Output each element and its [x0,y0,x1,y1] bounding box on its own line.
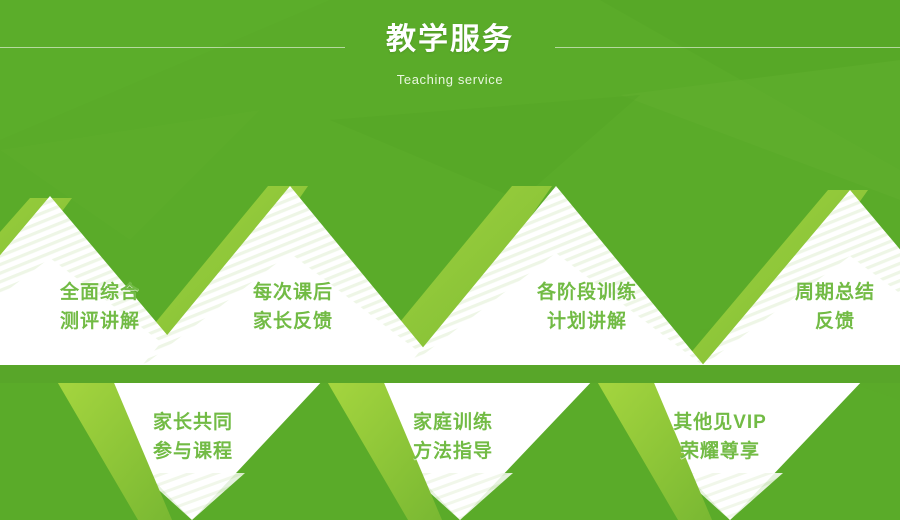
label-line-1: 每次课后 [253,282,333,303]
label-cycle-summary: 周期总结 反馈 [770,278,900,337]
banner-header: 教学服务 Teaching service [0,0,900,150]
label-line-1: 家庭训练 [413,412,493,433]
label-line-2: 方法指导 [378,437,528,466]
label-full-assessment: 全面综合 测评讲解 [0,278,200,337]
label-vip-privileges: 其他见VIP 荣耀尊享 [645,408,795,467]
teaching-service-banner: 教学服务 Teaching service [0,0,900,520]
label-parent-join: 家长共同 参与课程 [118,408,268,467]
label-line-1: 各阶段训练 [537,282,637,303]
label-line-1: 其他见VIP [673,412,767,433]
label-line-2: 计划讲解 [512,307,662,336]
label-line-2: 参与课程 [118,437,268,466]
label-line-2: 家长反馈 [218,307,368,336]
label-line-2: 测评讲解 [0,307,200,336]
page-subtitle: Teaching service [0,72,900,87]
label-line-2: 荣耀尊享 [645,437,795,466]
label-line-1: 家长共同 [153,412,233,433]
label-stage-training: 各阶段训练 计划讲解 [512,278,662,337]
label-line-2: 反馈 [770,307,900,336]
page-title: 教学服务 [0,22,900,58]
row-separator-band [0,365,900,383]
label-parent-feedback: 每次课后 家长反馈 [218,278,368,337]
top-triangle-row [0,168,900,368]
label-line-1: 全面综合 [60,282,140,303]
label-home-training: 家庭训练 方法指导 [378,408,528,467]
label-line-1: 周期总结 [795,282,875,303]
